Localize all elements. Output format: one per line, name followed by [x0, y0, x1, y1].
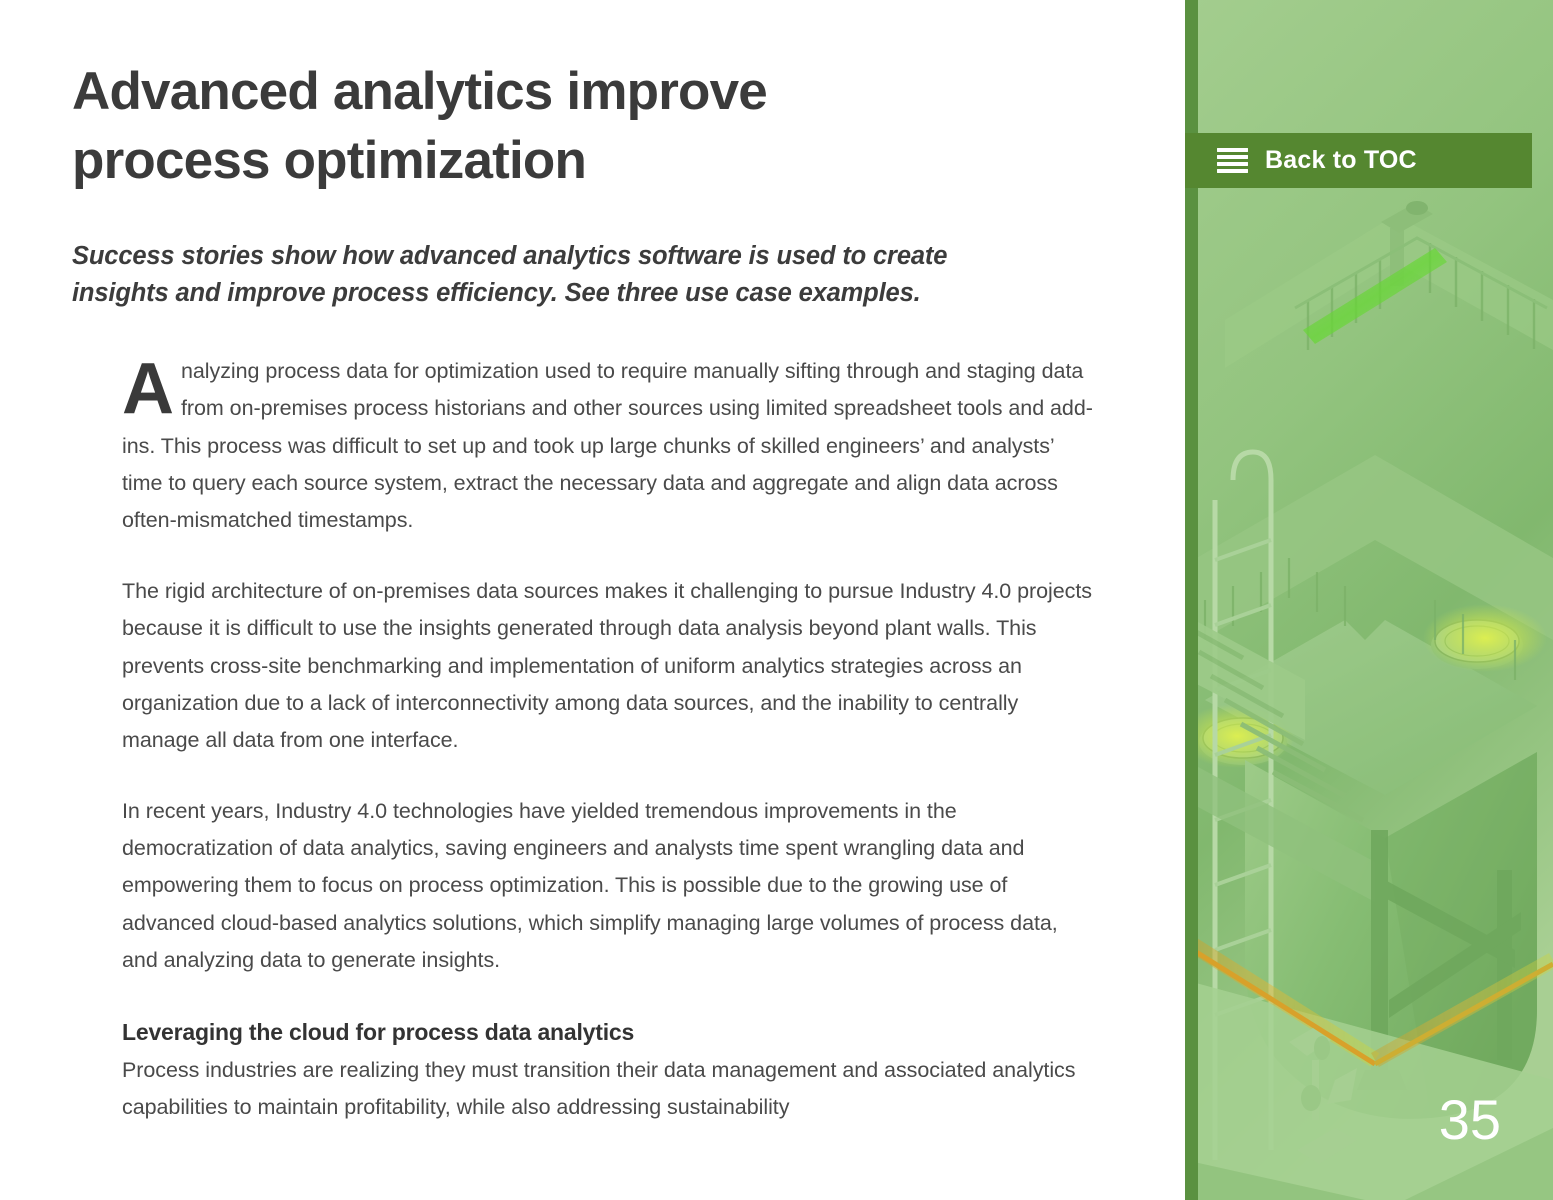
- paragraph-2: The rigid architecture of on-premises da…: [122, 573, 1095, 759]
- page-title: Advanced analytics improve process optim…: [72, 58, 902, 196]
- paragraph-3: In recent years, Industry 4.0 technologi…: [122, 793, 1095, 979]
- back-to-toc-button[interactable]: Back to TOC: [1185, 133, 1532, 188]
- drop-cap: A: [122, 355, 181, 417]
- back-to-toc-label: Back to TOC: [1265, 146, 1417, 175]
- paragraph-4: Process industries are realizing they mu…: [122, 1052, 1095, 1126]
- article-deck: Success stories show how advanced analyt…: [72, 238, 1032, 311]
- hamburger-menu-icon: [1217, 148, 1248, 173]
- article-content: Advanced analytics improve process optim…: [0, 0, 1155, 1200]
- document-page: Advanced analytics improve process optim…: [0, 0, 1553, 1200]
- paragraph-1-text: nalyzing process data for optimization u…: [122, 359, 1093, 532]
- paragraph-1: Analyzing process data for optimization …: [122, 353, 1095, 539]
- article-body: Analyzing process data for optimization …: [72, 353, 1095, 1126]
- illustration-panel: Back to TOC 35: [1185, 0, 1553, 1200]
- page-number: 35: [1439, 1092, 1501, 1148]
- section-subheading: Leveraging the cloud for process data an…: [122, 1019, 1095, 1046]
